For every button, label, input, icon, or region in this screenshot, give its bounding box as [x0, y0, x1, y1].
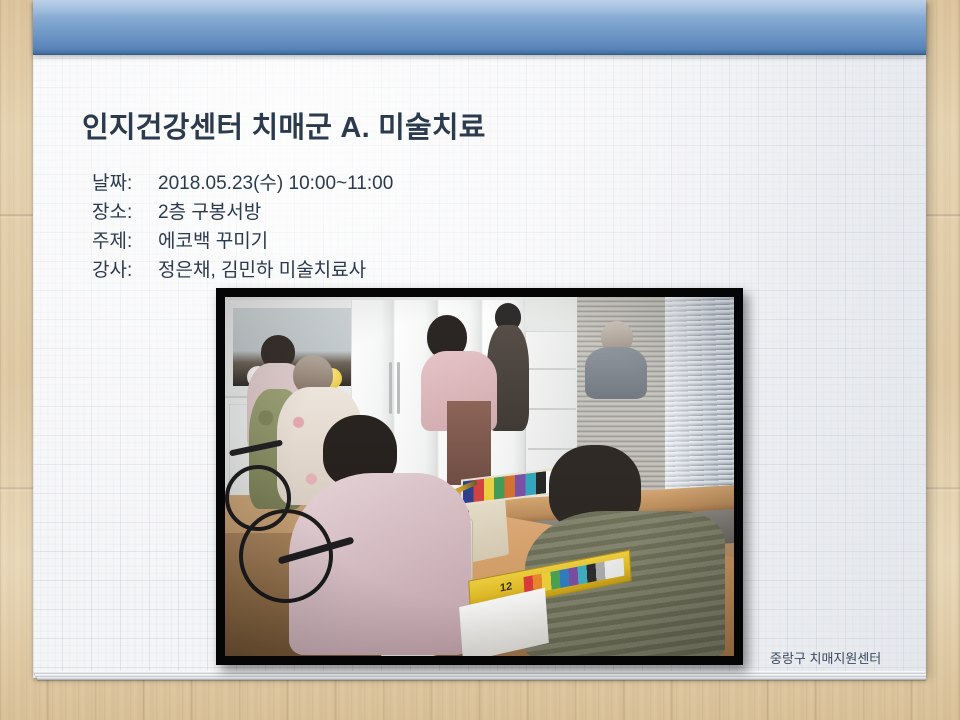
- detail-value-date: 2018.05.23(수) 10:00~11:00: [158, 168, 393, 195]
- detail-label-topic: 주제:: [92, 226, 154, 253]
- activity-photo-frame: 12: [216, 288, 743, 665]
- detail-label-location: 장소:: [92, 197, 154, 224]
- notepad-stacked-page-edges: [33, 671, 926, 685]
- footer-organization: 중랑구 치매지원센터: [770, 648, 881, 667]
- banner-gloss: [33, 0, 926, 18]
- detail-row-location: 장소: 2층 구봉서방: [92, 197, 652, 226]
- photo-person-elderly-man-back: [585, 321, 647, 399]
- detail-list: 날짜: 2018.05.23(수) 10:00~11:00 장소: 2층 구봉서…: [92, 168, 652, 284]
- detail-row-topic: 주제: 에코백 꾸미기: [92, 226, 652, 255]
- detail-value-location: 2층 구봉서방: [158, 197, 261, 224]
- detail-row-date: 날짜: 2018.05.23(수) 10:00~11:00: [92, 168, 652, 197]
- activity-photo: 12: [225, 297, 734, 656]
- photo-scene: 12: [225, 297, 734, 656]
- slide-canvas: 인지건강센터 치매군 A. 미술치료 날짜: 2018.05.23(수) 10:…: [0, 0, 960, 720]
- photo-marker-box-number: 12: [500, 580, 513, 594]
- detail-value-instructor: 정은채, 김민하 미술치료사: [158, 255, 366, 282]
- page-title: 인지건강센터 치매군 A. 미술치료: [82, 104, 486, 146]
- detail-value-topic: 에코백 꾸미기: [158, 226, 268, 253]
- detail-row-instructor: 강사: 정은채, 김민하 미술치료사: [92, 255, 652, 284]
- detail-label-date: 날짜:: [92, 168, 154, 195]
- header-banner: [33, 0, 926, 55]
- photo-wheelchair-wheel-2: [225, 465, 291, 531]
- detail-label-instructor: 강사:: [92, 255, 154, 282]
